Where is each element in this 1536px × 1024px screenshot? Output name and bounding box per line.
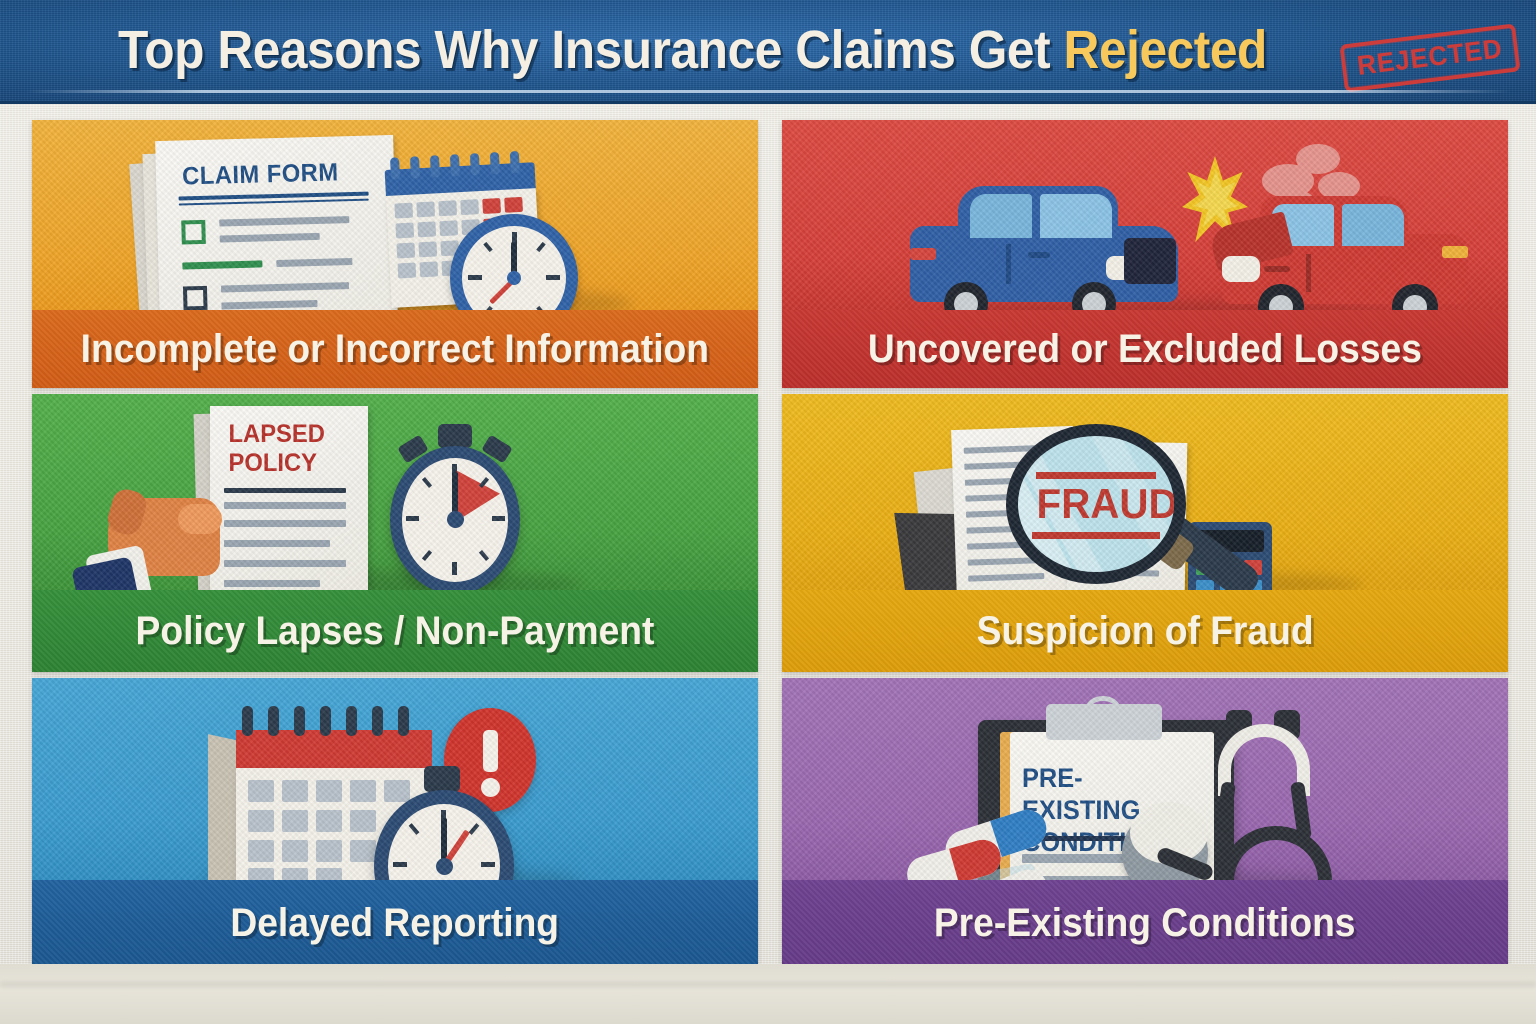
caption-label: Delayed Reporting: [231, 901, 560, 946]
panel-delayed-reporting[interactable]: Delayed Reporting: [32, 678, 758, 966]
panel-incomplete-information[interactable]: CLAIM FORM: [32, 120, 758, 388]
panel-art-pre-existing: PRE-EXISTING CONDITION: [782, 678, 1508, 880]
magnifying-glass-icon: FRAUD: [1004, 422, 1276, 590]
panel-uncovered-excluded-losses[interactable]: Uncovered or Excluded Losses: [782, 120, 1508, 388]
fraud-label: FRAUD: [1037, 480, 1160, 528]
stopwatch-icon: [368, 766, 520, 880]
page-title-accent: Rejected: [1064, 20, 1267, 80]
blue-car-icon: [910, 178, 1180, 310]
panel-caption-delayed-reporting: Delayed Reporting: [32, 880, 758, 966]
panel-caption-policy-lapses: Policy Lapses / Non-Payment: [32, 590, 758, 672]
rejected-stamp: REJECTED: [1339, 23, 1520, 92]
caption-label: Suspicion of Fraud: [977, 609, 1314, 654]
footer-divider: [0, 982, 1536, 987]
claim-form-title: CLAIM FORM: [182, 158, 339, 191]
reasons-grid: CLAIM FORM: [32, 120, 1508, 965]
panel-art-claim-form: CLAIM FORM: [32, 120, 758, 310]
header-divider: [26, 90, 1510, 93]
panel-art-fraud: FRAUD: [782, 394, 1508, 590]
page-title-main: Top Reasons Why Insurance Claims Get: [118, 20, 1064, 80]
panel-caption-uncovered-excluded-losses: Uncovered or Excluded Losses: [782, 310, 1508, 388]
panel-policy-lapses[interactable]: LAPSED POLICY: [32, 394, 758, 672]
stopwatch-icon: [384, 424, 526, 590]
panel-art-delayed-reporting: [32, 678, 758, 880]
clock-icon: [450, 214, 578, 310]
panel-caption-incomplete-information: Incomplete or Incorrect Information: [32, 310, 758, 388]
hand-icon: [90, 486, 240, 590]
checkbox-icon: [181, 220, 206, 245]
red-car-icon: [1202, 190, 1470, 310]
panel-suspicion-of-fraud[interactable]: FRAUD Suspicion of Fraud: [782, 394, 1508, 672]
panel-caption-pre-existing-conditions: Pre-Existing Conditions: [782, 880, 1508, 966]
caption-label: Uncovered or Excluded Losses: [868, 327, 1422, 372]
page-title: Top Reasons Why Insurance Claims Get Rej…: [118, 14, 1267, 86]
stethoscope-icon: [1196, 698, 1456, 880]
claim-form-icon: CLAIM FORM: [155, 135, 399, 310]
caption-label: Incomplete or Incorrect Information: [81, 327, 709, 372]
header-banner: Top Reasons Why Insurance Claims Get Rej…: [0, 0, 1536, 104]
footer-shelf: [0, 964, 1536, 1024]
policy-document-title: LAPSED POLICY: [229, 420, 325, 478]
panel-art-lapsed-policy: LAPSED POLICY: [32, 394, 758, 590]
pill-capsule-icon: [902, 820, 1102, 880]
panel-caption-suspicion-of-fraud: Suspicion of Fraud: [782, 590, 1508, 672]
panel-art-car-crash: [782, 120, 1508, 310]
caption-label: Pre-Existing Conditions: [934, 901, 1356, 946]
caption-label: Policy Lapses / Non-Payment: [136, 609, 655, 654]
panel-pre-existing-conditions[interactable]: PRE-EXISTING CONDITION: [782, 678, 1508, 966]
checkbox-icon: [183, 286, 208, 310]
